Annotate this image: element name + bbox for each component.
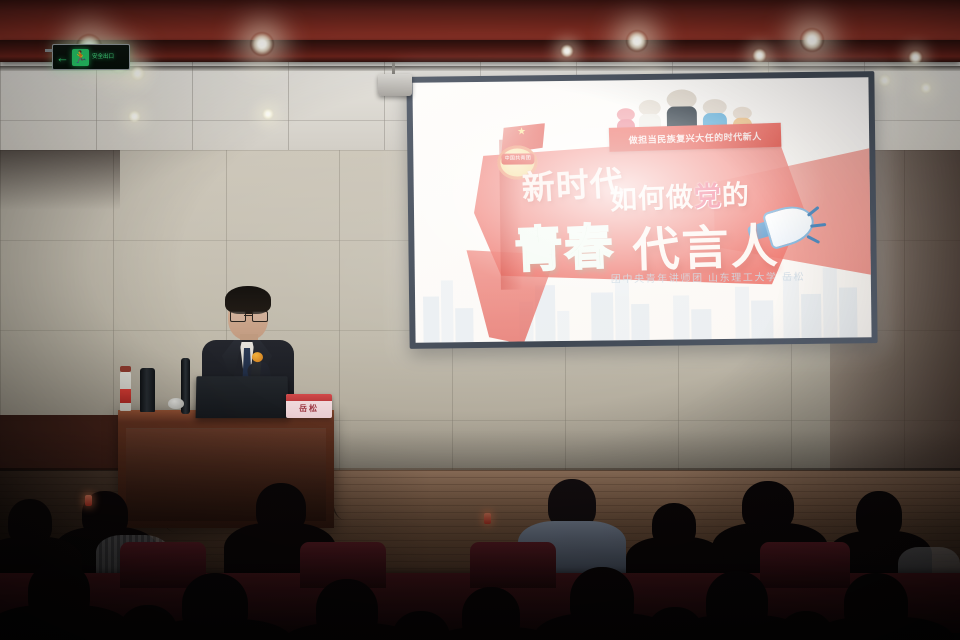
theater-seat[interactable] [470,542,556,588]
phone-screen-glow [484,513,491,524]
lecture-hall-photo: ← 🏃 安全出口 [0,0,960,640]
slide-title-qingchun: 青春 [513,207,616,281]
thermos-flask [140,368,155,412]
speaker-nameplate: 岳松 [286,394,332,418]
ceiling-rail [0,66,960,71]
projector [378,74,412,96]
ceiling-red-beam [0,40,960,62]
computer-mouse [168,398,184,409]
megaphone-sound-wave [807,235,821,244]
projection-screen: 做担当民族复兴大任的时代新人 ★ 中国共青团 新时代 如何做党的 青春 代言人 [412,77,871,343]
exit-sign-label: 安全出口 [92,54,114,60]
wall-shadow-left [0,150,120,210]
bottle-cap [120,366,131,372]
nameplate-text: 岳松 [299,403,319,418]
star-icon: ★ [517,127,526,137]
phone-screen-glow [85,495,92,506]
slide-title-highlight-dang: 党 [693,181,722,212]
nameplate-top-bar [286,394,332,401]
projection-screen-frame: 做担当民族复兴大任的时代新人 ★ 中国共青团 新时代 如何做党的 青春 代言人 [406,71,877,349]
slide-credit-line: 团中央青年讲师团 山东理工大学 岳松 [611,268,806,285]
audience-shoulders [0,605,130,640]
slide-banner: 做担当民族复兴大任的时代新人 [609,123,782,152]
theater-seat[interactable] [760,542,850,588]
bottle-label [120,389,131,403]
audience-area [0,455,960,640]
water-bottle [120,371,131,411]
laptop-computer [196,376,289,418]
slide-banner-text: 做担当民族复兴大任的时代新人 [628,129,761,146]
slide-title-line2-pre: 如何做 [609,182,694,215]
exit-sign-bracket [45,49,53,52]
slide-title-line2: 如何做党的 [609,173,750,217]
speaker-hair [225,286,271,314]
left-arrow-icon: ← [56,51,69,64]
emergency-exit-sign: ← 🏃 安全出口 [52,44,130,70]
glasses-icon [230,311,266,320]
running-man-icon: 🏃 [72,49,89,66]
slide-title-line2-post: 的 [721,180,750,211]
megaphone-sound-wave [810,223,826,227]
